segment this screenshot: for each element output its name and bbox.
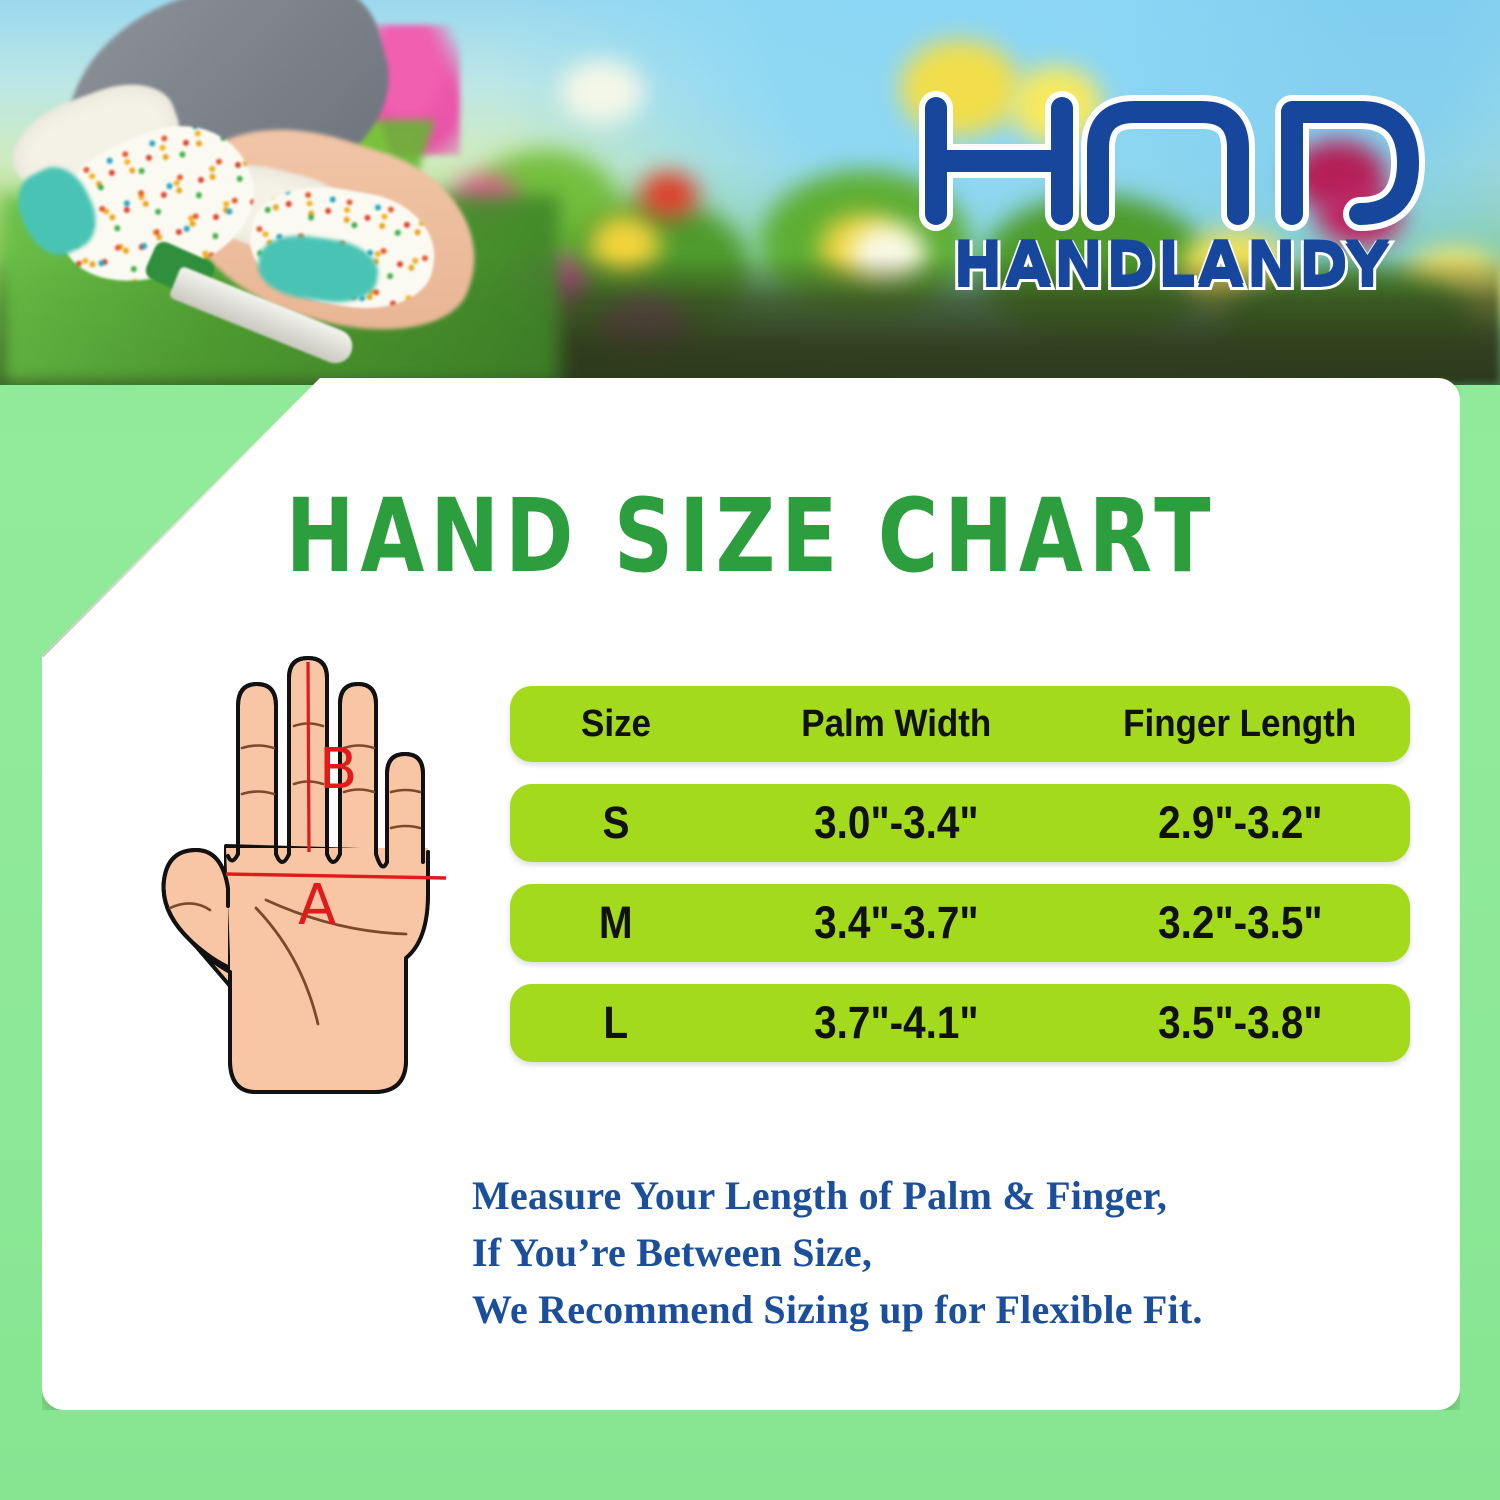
measure-label-b: B (319, 737, 357, 802)
brand-logo: HANDLANDY HANDLANDY (912, 86, 1432, 302)
finger-length-value: 3.2"-3.5" (1158, 897, 1323, 949)
size-value: S (602, 797, 629, 849)
hero-photo: HANDLANDY HANDLANDY (0, 0, 1500, 385)
size-chart-table: Size Palm Width Finger Length S 3.0"-3.4… (510, 686, 1410, 1084)
flower-blob-white (560, 60, 644, 124)
brand-name-overlay: HANDLANDY (912, 228, 1432, 298)
table-header-cell-size: Size (510, 703, 722, 746)
header-label: Palm Width (801, 703, 991, 746)
sizing-note: Measure Your Length of Palm & Finger, If… (472, 1168, 1432, 1338)
measure-line-b (308, 662, 309, 852)
page-title: HAND SIZE CHART (70, 478, 1431, 596)
cell-size: S (510, 797, 722, 849)
cell-size: M (510, 897, 722, 949)
page-background: HANDLANDY HANDLANDY HAND SIZE CHART (0, 0, 1500, 1500)
table-header-cell-finger-length: Finger Length (1070, 703, 1410, 746)
size-value: L (604, 997, 629, 1049)
size-chart-card: HAND SIZE CHART (42, 378, 1460, 1410)
size-value: M (599, 897, 633, 949)
sizing-note-line-3: We Recommend Sizing up for Flexible Fit. (472, 1282, 1432, 1339)
palm-width-value: 3.0"-3.4" (814, 797, 979, 849)
hand-measurement-diagram: B A (106, 656, 506, 1136)
cell-finger-length: 2.9"-3.2" (1070, 797, 1410, 849)
table-header-row: Size Palm Width Finger Length (510, 686, 1410, 762)
header-label: Size (581, 703, 651, 746)
cell-finger-length: 3.2"-3.5" (1070, 897, 1410, 949)
table-row: M 3.4"-3.7" 3.2"-3.5" (510, 884, 1410, 962)
palm-width-value: 3.4"-3.7" (814, 897, 979, 949)
cell-size: L (510, 997, 722, 1049)
header-label: Finger Length (1123, 703, 1356, 746)
measure-label-a: A (298, 873, 336, 938)
table-header-cell-palm-width: Palm Width (722, 703, 1070, 746)
sizing-note-line-1: Measure Your Length of Palm & Finger, (472, 1168, 1432, 1225)
cell-palm-width: 3.4"-3.7" (722, 897, 1070, 949)
hnd-monogram-icon (912, 86, 1432, 236)
cell-palm-width: 3.0"-3.4" (722, 797, 1070, 849)
palm-width-value: 3.7"-4.1" (814, 997, 979, 1049)
table-row: L 3.7"-4.1" 3.5"-3.8" (510, 984, 1410, 1062)
table-row: S 3.0"-3.4" 2.9"-3.2" (510, 784, 1410, 862)
flower-blob-red (640, 172, 698, 218)
cell-finger-length: 3.5"-3.8" (1070, 997, 1410, 1049)
finger-length-value: 3.5"-3.8" (1158, 997, 1323, 1049)
finger-length-value: 2.9"-3.2" (1158, 797, 1323, 849)
cell-palm-width: 3.7"-4.1" (722, 997, 1070, 1049)
hand-illustration-icon: B A (106, 656, 506, 1136)
sizing-note-line-2: If You’re Between Size, (472, 1225, 1432, 1282)
